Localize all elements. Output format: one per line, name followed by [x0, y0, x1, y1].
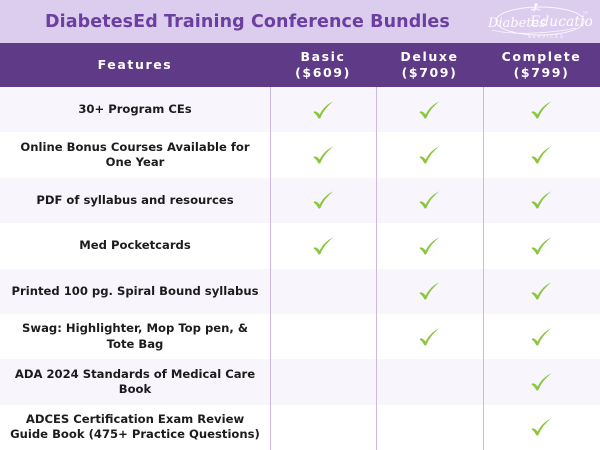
feature-label: Swag: Highlighter, Mop Top pen, & Tote B… [0, 314, 270, 359]
column-header-basic-price: ($609) [295, 65, 351, 81]
feature-label: Med Pocketcards [0, 223, 270, 268]
table-row: 30+ Program CEs [0, 87, 600, 132]
feature-label: ADCES Certification Exam Review Guide Bo… [0, 405, 270, 450]
cell-complete [483, 87, 600, 132]
check-icon [311, 144, 337, 166]
cell-basic [270, 223, 376, 268]
svg-text:Education: Education [529, 14, 592, 30]
cell-basic [270, 178, 376, 223]
check-icon [529, 235, 555, 257]
check-icon [529, 280, 555, 302]
cell-basic [270, 405, 376, 450]
table-row: Med Pocketcards [0, 223, 600, 268]
table-row: ADCES Certification Exam Review Guide Bo… [0, 405, 600, 450]
table-row: PDF of syllabus and resources [0, 178, 600, 223]
empty-cell [417, 416, 443, 438]
empty-cell [311, 280, 337, 302]
table-row: Swag: Highlighter, Mop Top pen, & Tote B… [0, 314, 600, 359]
check-icon [529, 99, 555, 121]
cell-basic [270, 132, 376, 177]
check-icon [417, 280, 443, 302]
check-icon [417, 99, 443, 121]
cell-complete [483, 178, 600, 223]
feature-label: Online Bonus Courses Available for One Y… [0, 132, 270, 177]
cell-basic [270, 269, 376, 314]
cell-complete [483, 223, 600, 268]
check-icon [417, 144, 443, 166]
check-icon [311, 235, 337, 257]
check-icon [417, 235, 443, 257]
cell-basic [270, 359, 376, 404]
svg-text:TM: TM [582, 11, 588, 15]
column-header-complete: Complete ($799) [483, 43, 600, 87]
table-body: 30+ Program CEsOnline Bonus Courses Avai… [0, 87, 600, 450]
title-band: DiabetesEd Training Conference Bundles D… [0, 0, 600, 43]
empty-cell [311, 416, 337, 438]
column-header-complete-price: ($799) [514, 65, 570, 81]
pricing-comparison-page: DiabetesEd Training Conference Bundles D… [0, 0, 600, 450]
column-header-complete-label: Complete [502, 49, 582, 65]
check-icon [417, 326, 443, 348]
check-icon [529, 144, 555, 166]
table-row: Online Bonus Courses Available for One Y… [0, 132, 600, 177]
check-icon [417, 189, 443, 211]
column-header-features-label: Features [98, 57, 173, 73]
feature-label: Printed 100 pg. Spiral Bound syllabus [0, 269, 270, 314]
diabetes-education-services-logo: Diabetes Education SERVICES TM [480, 2, 592, 42]
column-header-deluxe-label: Deluxe [400, 49, 458, 65]
check-icon [311, 189, 337, 211]
cell-deluxe [376, 359, 483, 404]
cell-complete [483, 314, 600, 359]
feature-label: ADA 2024 Standards of Medical Care Book [0, 359, 270, 404]
column-header-deluxe: Deluxe ($709) [376, 43, 483, 87]
cell-basic [270, 87, 376, 132]
cell-deluxe [376, 87, 483, 132]
svg-text:SERVICES: SERVICES [528, 34, 565, 40]
check-icon [529, 371, 555, 393]
cell-basic [270, 314, 376, 359]
cell-complete [483, 132, 600, 177]
table-header-row: Features Basic ($609) Deluxe ($709) Comp… [0, 43, 600, 87]
cell-deluxe [376, 178, 483, 223]
empty-cell [311, 371, 337, 393]
column-header-features: Features [0, 43, 270, 87]
cell-deluxe [376, 132, 483, 177]
column-header-basic: Basic ($609) [270, 43, 376, 87]
feature-label: PDF of syllabus and resources [0, 178, 270, 223]
cell-deluxe [376, 223, 483, 268]
empty-cell [417, 371, 443, 393]
empty-cell [311, 326, 337, 348]
feature-label: 30+ Program CEs [0, 87, 270, 132]
check-icon [529, 189, 555, 211]
bundle-comparison-table: Features Basic ($609) Deluxe ($709) Comp… [0, 43, 600, 450]
cell-deluxe [376, 314, 483, 359]
column-header-deluxe-price: ($709) [402, 65, 458, 81]
table-row: Printed 100 pg. Spiral Bound syllabus [0, 269, 600, 314]
cell-deluxe [376, 405, 483, 450]
cell-complete [483, 405, 600, 450]
column-header-basic-label: Basic [300, 49, 345, 65]
table-row: ADA 2024 Standards of Medical Care Book [0, 359, 600, 404]
cell-complete [483, 269, 600, 314]
page-title: DiabetesEd Training Conference Bundles [45, 12, 450, 32]
check-icon [529, 326, 555, 348]
cell-complete [483, 359, 600, 404]
cell-deluxe [376, 269, 483, 314]
check-icon [311, 99, 337, 121]
check-icon [529, 416, 555, 438]
